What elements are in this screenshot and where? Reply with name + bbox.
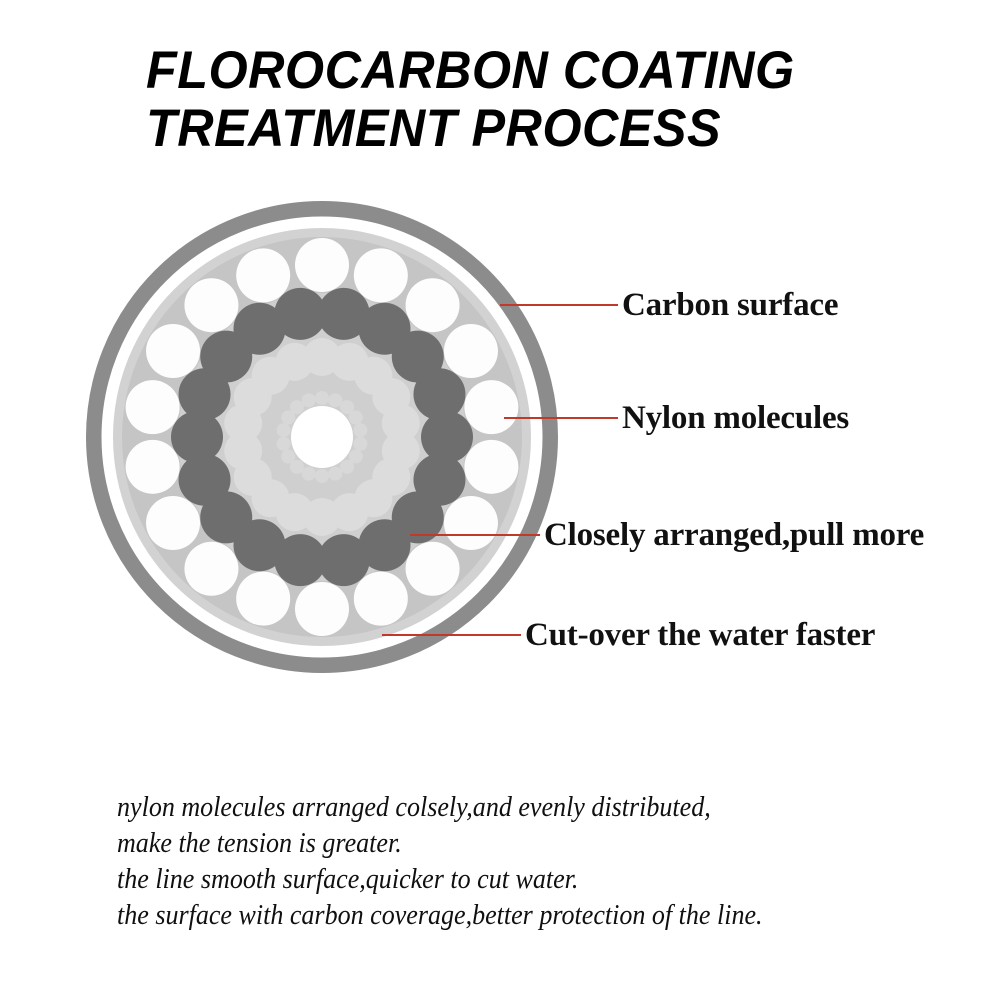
callout-nylon-molecules: Nylon molecules	[504, 398, 849, 438]
callout-label-nylon-molecules: Nylon molecules	[622, 400, 849, 437]
leader-line-nylon-molecules	[504, 417, 618, 419]
carbon-surface-beads-bead	[295, 582, 349, 636]
carbon-surface-beads-bead	[146, 324, 200, 378]
core-micro-beads-bead	[340, 460, 354, 474]
description-line-1: nylon molecules arranged colsely,and eve…	[117, 790, 889, 826]
carbon-surface-beads-bead	[236, 248, 290, 302]
core-micro-beads-bead	[302, 467, 316, 481]
leader-line-carbon-surface	[500, 304, 618, 306]
description-block: nylon molecules arranged colsely,and eve…	[117, 790, 947, 934]
carbon-surface-beads-bead	[126, 440, 180, 494]
core-hole	[291, 406, 353, 468]
core-layer	[291, 406, 353, 468]
core-micro-beads-bead	[302, 393, 316, 407]
carbon-surface-beads-bead	[184, 278, 238, 332]
core-micro-beads-bead	[290, 400, 304, 414]
core-micro-beads-bead	[315, 469, 329, 483]
carbon-surface-beads-bead	[354, 248, 408, 302]
callout-carbon-surface: Carbon surface	[500, 285, 838, 325]
carbon-surface-beads-bead	[406, 278, 460, 332]
core-micro-beads-bead	[315, 391, 329, 405]
leader-line-cut-over-water	[382, 634, 521, 636]
carbon-surface-beads-bead	[464, 440, 518, 494]
inner-filler-beads-bead	[276, 343, 314, 381]
title-line-2: TREATMENT PROCESS	[146, 100, 868, 158]
core-micro-beads-bead	[349, 411, 363, 425]
callout-label-cut-over-water: Cut-over the water faster	[525, 617, 875, 654]
core-micro-beads-bead	[277, 423, 291, 437]
leader-line-closely-arranged	[410, 534, 540, 536]
description-line-4: the surface with carbon coverage,better …	[117, 898, 889, 934]
carbon-surface-beads-bead	[146, 496, 200, 550]
description-line-3: the line smooth surface,quicker to cut w…	[117, 862, 889, 898]
core-micro-beads-bead	[353, 423, 367, 437]
carbon-surface-beads-bead	[126, 380, 180, 434]
description-line-2: make the tension is greater.	[117, 826, 889, 862]
callout-closely-arranged: Closely arranged,pull more	[410, 515, 924, 555]
nylon-molecule-beads-bead	[274, 288, 326, 340]
callout-cut-over-water: Cut-over the water faster	[382, 615, 875, 655]
carbon-surface-beads-bead	[295, 238, 349, 292]
carbon-surface-beads-bead	[236, 572, 290, 626]
page-title: FLOROCARBON COATING TREATMENT PROCESS	[146, 42, 906, 158]
carbon-surface-beads-bead	[444, 324, 498, 378]
title-line-1: FLOROCARBON COATING	[146, 42, 868, 100]
core-micro-beads-bead	[328, 467, 342, 481]
callout-label-carbon-surface: Carbon surface	[622, 287, 838, 324]
core-micro-beads-bead	[277, 437, 291, 451]
callout-label-closely-arranged: Closely arranged,pull more	[544, 517, 924, 554]
carbon-surface-beads-bead	[184, 542, 238, 596]
core-micro-beads-bead	[281, 450, 295, 464]
core-micro-beads-bead	[353, 437, 367, 451]
core-micro-beads-bead	[328, 393, 342, 407]
